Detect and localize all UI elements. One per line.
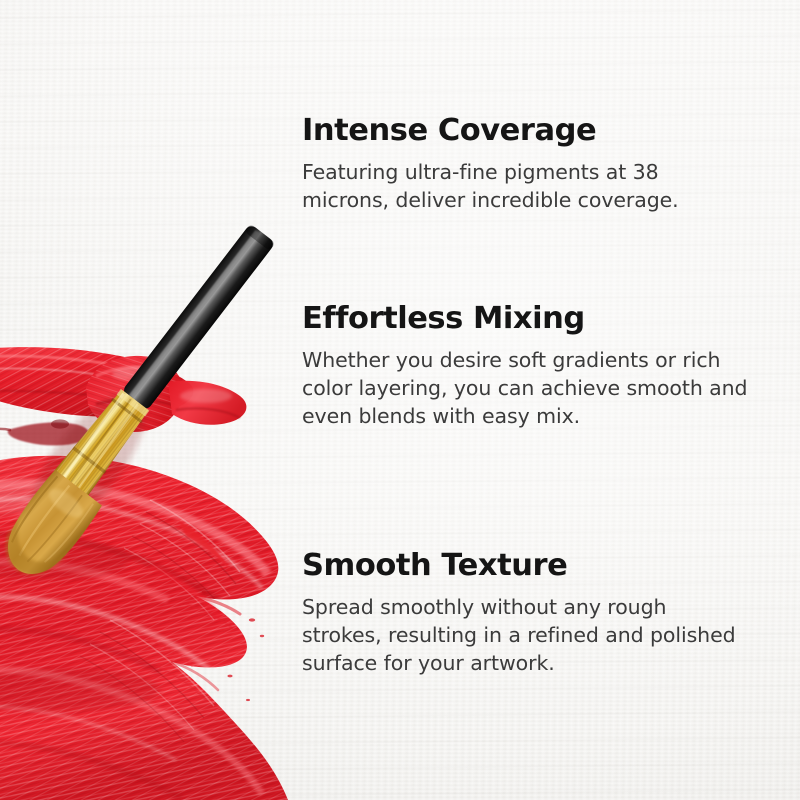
feature-body: Whether you desire soft gradients or ric… [302,346,750,430]
feature-title: Effortless Mixing [302,302,750,336]
feature-body: Spread smoothly without any rough stroke… [302,593,750,677]
feature-title: Smooth Texture [302,549,750,583]
feature-item-smooth-texture: Smooth Texture Spread smoothly without a… [302,549,750,677]
feature-item-intense-coverage: Intense Coverage Featuring ultra-fine pi… [302,114,750,214]
feature-item-effortless-mixing: Effortless Mixing Whether you desire sof… [302,302,750,430]
feature-body: Featuring ultra-fine pigments at 38 micr… [302,158,750,214]
feature-title: Intense Coverage [302,114,750,148]
product-feature-image: Intense Coverage Featuring ultra-fine pi… [0,0,800,800]
feature-list: Intense Coverage Featuring ultra-fine pi… [302,0,750,800]
